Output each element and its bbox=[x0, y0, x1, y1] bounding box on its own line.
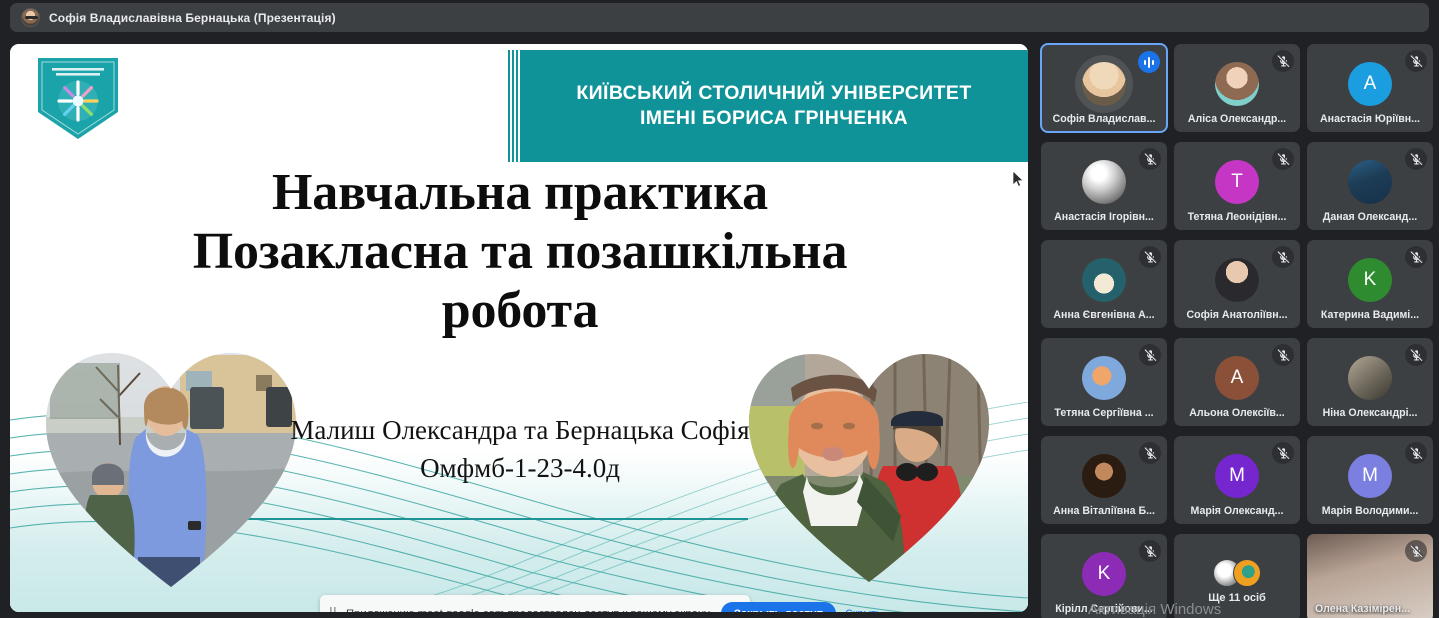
participant-name: Тетяна Леонідівн... bbox=[1174, 211, 1300, 223]
mouse-pointer-icon bbox=[1012, 171, 1024, 187]
participant-tile[interactable]: Аліса Олександр... bbox=[1174, 44, 1300, 132]
participant-tile[interactable]: MМарія Володими... bbox=[1307, 436, 1433, 524]
participant-avatar: K bbox=[1348, 258, 1392, 302]
presentation-slide: КИЇВСЬКИЙ СТОЛИЧНИЙ УНІВЕРСИТЕТ ІМЕНІ БО… bbox=[10, 44, 1028, 612]
participant-tile[interactable]: Софія Владислав... bbox=[1041, 44, 1167, 132]
slide-divider-line bbox=[228, 518, 748, 520]
mic-muted-icon bbox=[1139, 344, 1161, 366]
participant-name: Анастасія Ігорівн... bbox=[1041, 211, 1167, 223]
meet-presentation-window: Софія Владиславівна Бернацька (Презентац… bbox=[0, 0, 1439, 618]
participant-name: Анна Євгенівна А... bbox=[1041, 309, 1167, 321]
participant-tile[interactable]: Даная Олександ... bbox=[1307, 142, 1433, 230]
mic-muted-icon bbox=[1272, 442, 1294, 464]
participant-name: Софія Анатоліївн... bbox=[1174, 309, 1300, 321]
participant-avatar bbox=[1082, 258, 1126, 302]
mic-muted-icon bbox=[1405, 148, 1427, 170]
banner-line-1: КИЇВСЬКИЙ СТОЛИЧНИЙ УНІВЕРСИТЕТ bbox=[576, 82, 971, 105]
participant-tile[interactable]: TТетяна Леонідівн... bbox=[1174, 142, 1300, 230]
slide-title-line-1: Навчальна практика bbox=[110, 164, 930, 223]
shared-screen-stage[interactable]: КИЇВСЬКИЙ СТОЛИЧНИЙ УНІВЕРСИТЕТ ІМЕНІ БО… bbox=[10, 44, 1028, 612]
participant-avatar bbox=[1082, 454, 1126, 498]
windows-activation-watermark: Активація Windows bbox=[1088, 601, 1388, 618]
mic-muted-icon bbox=[1405, 50, 1427, 72]
participant-avatar: T bbox=[1215, 160, 1259, 204]
participant-avatar bbox=[1082, 160, 1126, 204]
hide-notification-link[interactable]: Скрыть bbox=[845, 608, 881, 613]
participant-avatar: M bbox=[1348, 454, 1392, 498]
participant-tile[interactable]: Ніна Олександрі... bbox=[1307, 338, 1433, 426]
slide-title-line-2: Позакласна та позашкільна bbox=[110, 223, 930, 282]
university-banner: КИЇВСЬКИЙ СТОЛИЧНИЙ УНІВЕРСИТЕТ ІМЕНІ БО… bbox=[520, 50, 1028, 162]
overflow-avatars bbox=[1213, 559, 1261, 587]
presenter-title: Софія Владиславівна Бернацька (Презентац… bbox=[49, 11, 336, 25]
participant-avatar bbox=[1348, 160, 1392, 204]
slide-authors: Малиш Олександра та Бернацька Софія bbox=[180, 411, 860, 449]
participant-name: Софія Владислав... bbox=[1041, 113, 1167, 125]
mic-muted-icon bbox=[1405, 442, 1427, 464]
participants-grid[interactable]: Софія Владислав...Аліса Олександр...AАна… bbox=[1041, 44, 1433, 618]
participant-tile[interactable]: KКатерина Вадимі... bbox=[1307, 240, 1433, 328]
drag-grip-icon[interactable] bbox=[329, 607, 337, 613]
participant-name: Анна Віталіївна Б... bbox=[1041, 505, 1167, 517]
participant-tile[interactable]: AАнастасія Юріївн... bbox=[1307, 44, 1433, 132]
presenter-chip[interactable]: Софія Владиславівна Бернацька (Презентац… bbox=[10, 3, 1429, 32]
participant-avatar: A bbox=[1215, 356, 1259, 400]
participant-name: Катерина Вадимі... bbox=[1307, 309, 1433, 321]
mic-muted-icon bbox=[1405, 540, 1427, 562]
overflow-avatar-2 bbox=[1233, 559, 1261, 587]
participant-avatar bbox=[1215, 258, 1259, 302]
mic-muted-icon bbox=[1405, 344, 1427, 366]
participant-name: Даная Олександ... bbox=[1307, 211, 1433, 223]
participant-name: Марія Олександ... bbox=[1174, 505, 1300, 517]
participant-name: Ніна Олександрі... bbox=[1307, 407, 1433, 419]
slide-title: Навчальна практика Позакласна та позашкі… bbox=[110, 164, 930, 340]
slide-subtitle: Малиш Олександра та Бернацька Софія Омфм… bbox=[180, 411, 860, 488]
participant-tile[interactable]: Софія Анатоліївн... bbox=[1174, 240, 1300, 328]
mic-muted-icon bbox=[1272, 246, 1294, 268]
mic-muted-icon bbox=[1272, 344, 1294, 366]
mic-muted-icon bbox=[1139, 442, 1161, 464]
participant-avatar: A bbox=[1348, 62, 1392, 106]
presenter-avatar-icon bbox=[21, 8, 40, 27]
participant-tile[interactable]: AАльона Олексіїв... bbox=[1174, 338, 1300, 426]
participant-tile[interactable]: Анна Віталіївна Б... bbox=[1041, 436, 1167, 524]
window-top-bar: Софія Владиславівна Бернацька (Презентац… bbox=[0, 0, 1439, 36]
participant-tile[interactable]: Анна Євгенівна А... bbox=[1041, 240, 1167, 328]
participant-avatar: K bbox=[1082, 552, 1126, 596]
participant-avatar bbox=[1348, 356, 1392, 400]
speaking-indicator-icon bbox=[1138, 51, 1160, 73]
participant-name: Тетяна Сергіївна ... bbox=[1041, 407, 1167, 419]
mic-muted-icon bbox=[1272, 50, 1294, 72]
participant-name: Альона Олексіїв... bbox=[1174, 407, 1300, 419]
mic-muted-icon bbox=[1139, 540, 1161, 562]
share-message: Приложению meet.google.com предоставлен … bbox=[346, 608, 712, 613]
participant-avatar bbox=[1082, 356, 1126, 400]
participant-avatar bbox=[1215, 62, 1259, 106]
screen-share-notification[interactable]: Приложению meet.google.com предоставлен … bbox=[320, 595, 750, 612]
participant-tile[interactable]: Анастасія Ігорівн... bbox=[1041, 142, 1167, 230]
university-shield-logo-icon bbox=[32, 56, 124, 141]
mic-muted-icon bbox=[1139, 246, 1161, 268]
mic-muted-icon bbox=[1405, 246, 1427, 268]
slide-group-code: Омфмб-1-23-4.0д bbox=[180, 449, 860, 487]
participant-avatar: M bbox=[1215, 454, 1259, 498]
slide-title-line-3: робота bbox=[110, 282, 930, 341]
mic-muted-icon bbox=[1272, 148, 1294, 170]
participant-name: Аліса Олександр... bbox=[1174, 113, 1300, 125]
mic-muted-icon bbox=[1139, 148, 1161, 170]
participant-name: Марія Володими... bbox=[1307, 505, 1433, 517]
participant-name: Анастасія Юріївн... bbox=[1307, 113, 1433, 125]
participant-tile[interactable]: Тетяна Сергіївна ... bbox=[1041, 338, 1167, 426]
participant-tile[interactable]: MМарія Олександ... bbox=[1174, 436, 1300, 524]
stop-sharing-button[interactable]: Закрыть доступ bbox=[721, 602, 836, 612]
participant-avatar bbox=[1082, 62, 1126, 106]
banner-line-2: ІМЕНІ БОРИСА ГРІНЧЕНКА bbox=[640, 107, 908, 130]
